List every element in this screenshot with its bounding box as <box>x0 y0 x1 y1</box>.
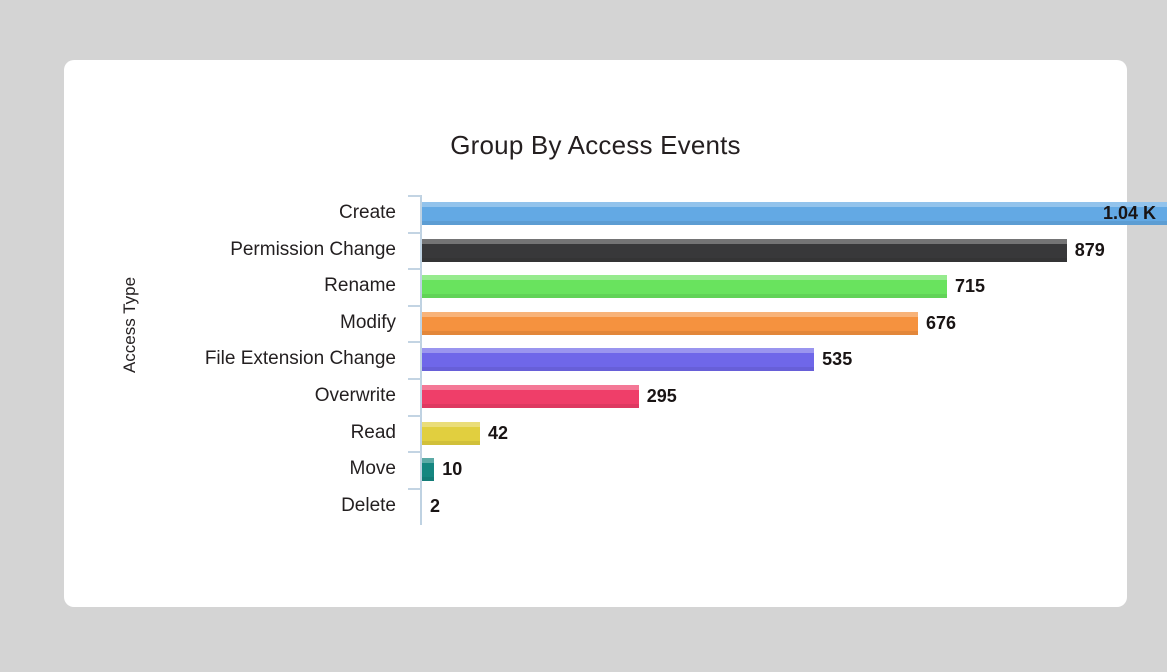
bar-row[interactable]: File Extension Change535 <box>100 341 1122 378</box>
bar[interactable] <box>422 348 814 371</box>
category-label: Modify <box>100 310 408 336</box>
plot-area: Access Type Create1.04 KPermission Chang… <box>100 195 1122 525</box>
bar-row[interactable]: Rename715 <box>100 268 1122 305</box>
chart-screenshot: Group By Access Events Access Type Creat… <box>0 0 1167 672</box>
bar-row[interactable]: Create1.04 K <box>100 195 1122 232</box>
bar-value-label: 295 <box>647 384 677 408</box>
axis-tick <box>408 451 421 453</box>
chart-card: Group By Access Events Access Type Creat… <box>64 60 1127 607</box>
bar-track: 2 <box>422 495 1122 518</box>
bar-row[interactable]: Modify676 <box>100 305 1122 342</box>
bar-value-label: 535 <box>822 347 852 371</box>
axis-tick <box>408 232 421 234</box>
bar-value-label: 42 <box>488 421 508 445</box>
bar-value-label: 879 <box>1075 238 1105 262</box>
bar-row[interactable]: Delete2 <box>100 488 1122 525</box>
bar[interactable] <box>422 202 1167 225</box>
axis-tick <box>408 305 421 307</box>
category-label: Read <box>100 420 408 446</box>
category-label: Overwrite <box>100 383 408 409</box>
bar-row[interactable]: Permission Change879 <box>100 232 1122 269</box>
bar-row[interactable]: Move10 <box>100 451 1122 488</box>
category-label: Rename <box>100 273 408 299</box>
bar[interactable] <box>422 275 947 298</box>
category-label: Move <box>100 456 408 482</box>
bar-track: 676 <box>422 312 1122 335</box>
bar-track: 879 <box>422 239 1122 262</box>
bar[interactable] <box>422 458 434 481</box>
category-label: File Extension Change <box>100 346 408 372</box>
bar-value-label: 10 <box>442 457 462 481</box>
bar-row[interactable]: Overwrite295 <box>100 378 1122 415</box>
bar-value-label: 2 <box>430 494 440 518</box>
bar-track: 535 <box>422 348 1122 371</box>
bar-track: 1.04 K <box>422 202 1122 225</box>
bar-track: 295 <box>422 385 1122 408</box>
bar-value-label: 676 <box>926 311 956 335</box>
bar-value-label: 715 <box>955 274 985 298</box>
bar-track: 42 <box>422 422 1122 445</box>
bar[interactable] <box>422 239 1067 262</box>
bar[interactable] <box>422 422 480 445</box>
chart-title: Group By Access Events <box>64 130 1127 161</box>
bar-value-label: 1.04 K <box>1103 201 1156 225</box>
category-label: Create <box>100 200 408 226</box>
bar-rows: Create1.04 KPermission Change879Rename71… <box>100 195 1122 525</box>
category-label: Delete <box>100 493 408 519</box>
bar[interactable] <box>422 312 918 335</box>
axis-tick <box>408 378 421 380</box>
axis-tick <box>408 341 421 343</box>
axis-tick <box>408 268 421 270</box>
category-label: Permission Change <box>100 237 408 263</box>
bar-track: 715 <box>422 275 1122 298</box>
axis-tick <box>408 195 421 197</box>
axis-tick <box>408 488 421 490</box>
bar[interactable] <box>422 385 639 408</box>
axis-tick <box>408 415 421 417</box>
bar-track: 10 <box>422 458 1122 481</box>
bar-row[interactable]: Read42 <box>100 415 1122 452</box>
